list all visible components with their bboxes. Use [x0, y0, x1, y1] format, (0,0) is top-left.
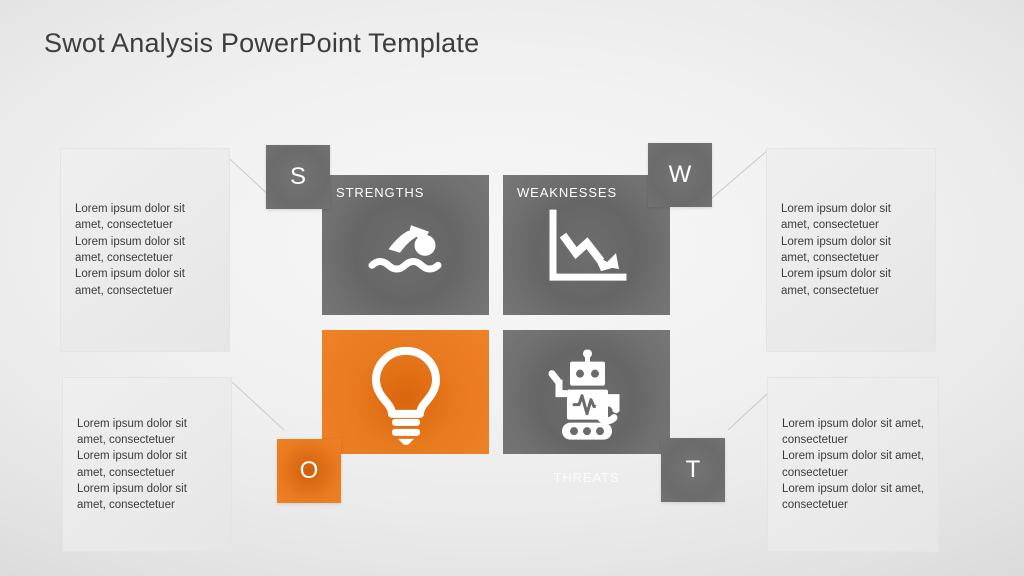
tile-threats-background — [503, 330, 670, 454]
panel-opportunities[interactable]: Lorem ipsum dolor sit amet, consectetuer… — [62, 377, 232, 552]
page-title: Swot Analysis PowerPoint Template — [44, 28, 479, 59]
panel-threats[interactable]: Lorem ipsum dolor sit amet, consectetuer… — [767, 377, 939, 552]
panel-strengths-text: Lorem ipsum dolor sit amet, consectetuer… — [61, 201, 229, 299]
badge-weaknesses[interactable]: W — [648, 143, 712, 207]
badge-strengths[interactable]: S — [266, 145, 330, 209]
badge-opportunities-letter: O — [300, 459, 319, 483]
connector-line-opportunities — [232, 372, 292, 434]
tile-strengths-label: STRENGTHS — [336, 185, 424, 200]
panel-strengths[interactable]: Lorem ipsum dolor sit amet, consectetuer… — [60, 148, 230, 352]
panel-threats-text: Lorem ipsum dolor sit amet, consectetuer… — [768, 416, 938, 514]
swot-slide: Swot Analysis PowerPoint Template Lorem … — [0, 0, 1024, 576]
tile-weaknesses[interactable]: WEAKNESSES — [503, 175, 670, 315]
badge-threats[interactable]: T — [661, 438, 725, 502]
panel-weaknesses-text: Lorem ipsum dolor sit amet, consectetuer… — [767, 201, 935, 299]
panel-weaknesses[interactable]: Lorem ipsum dolor sit amet, consectetuer… — [766, 148, 936, 352]
tile-opportunities-background — [322, 330, 489, 454]
tile-threats[interactable]: THREATS — [503, 330, 670, 454]
tile-weaknesses-label: WEAKNESSES — [517, 185, 617, 200]
badge-strengths-letter: S — [290, 165, 306, 189]
badge-weaknesses-letter: W — [669, 163, 692, 187]
connector-line-weaknesses — [706, 140, 774, 202]
tile-opportunities[interactable] — [322, 330, 489, 454]
badge-threats-letter: T — [686, 458, 701, 482]
tile-strengths[interactable]: STRENGTHS — [322, 175, 489, 315]
badge-opportunities[interactable]: O — [277, 439, 341, 503]
tile-threats-label: THREATS — [503, 470, 670, 485]
panel-opportunities-text: Lorem ipsum dolor sit amet, consectetuer… — [63, 416, 231, 514]
